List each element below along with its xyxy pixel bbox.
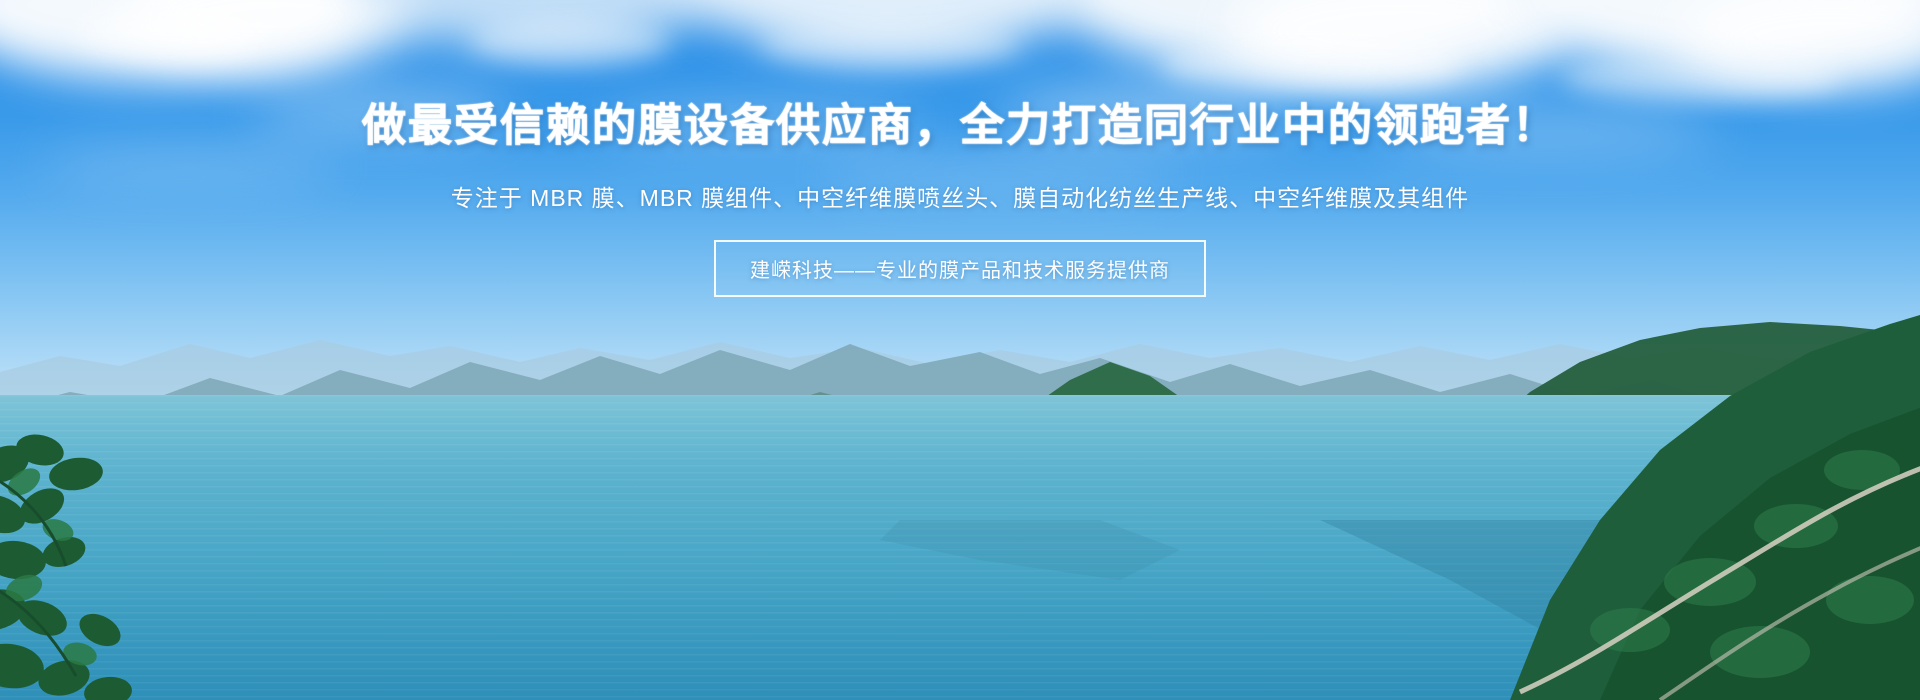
- foreground-foliage-right: [1510, 300, 1920, 700]
- hero-banner: 做最受信赖的膜设备供应商，全力打造同行业中的领跑者！ 专注于 MBR 膜、MBR…: [0, 0, 1920, 700]
- foreground-foliage-left: [0, 430, 210, 700]
